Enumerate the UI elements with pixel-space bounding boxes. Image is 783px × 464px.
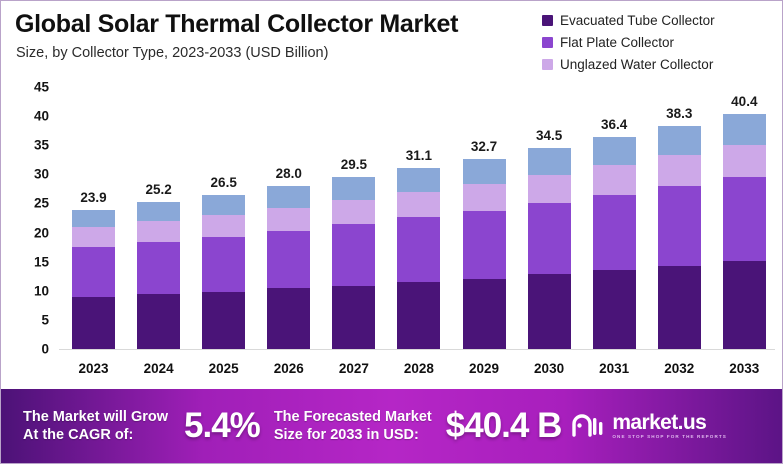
stacked-bar[interactable]	[397, 168, 440, 349]
bar-segment[interactable]	[528, 175, 571, 203]
y-axis-tick-label: 5	[41, 312, 49, 327]
bar-segment[interactable]	[658, 126, 701, 155]
bar-column[interactable]: 32.7	[452, 77, 517, 349]
bar-segment[interactable]	[593, 165, 636, 195]
x-axis-tick-label: 2028	[386, 361, 451, 376]
logo-tagline: ONE STOP SHOP FOR THE REPORTS	[612, 435, 727, 440]
bar-total-label: 23.9	[61, 190, 126, 205]
bar-column[interactable]: 40.4	[712, 77, 777, 349]
bar-total-label: 29.5	[321, 157, 386, 172]
bar-segment[interactable]	[593, 270, 636, 349]
bar-segment[interactable]	[137, 202, 180, 221]
bar-segment[interactable]	[202, 292, 245, 349]
cagr-value: 5.4%	[184, 406, 260, 446]
bar-total-label: 28.0	[256, 166, 321, 181]
bar-total-label: 26.5	[191, 175, 256, 190]
cagr-block: The Market will Grow At the CAGR of: 5.4…	[23, 406, 260, 446]
bar-segment[interactable]	[332, 286, 375, 349]
legend-item-label: Evacuated Tube Collector	[560, 13, 715, 28]
bar-total-label: 38.3	[647, 106, 712, 121]
cagr-caption-line2: At the CAGR of:	[23, 426, 168, 444]
bar-segment[interactable]	[528, 148, 571, 175]
y-axis: 051015202530354045	[1, 77, 59, 359]
chart-legend: Evacuated Tube CollectorFlat Plate Colle…	[542, 10, 774, 76]
y-axis-tick-label: 15	[34, 254, 49, 269]
stacked-bar[interactable]	[72, 210, 115, 349]
bar-column[interactable]: 34.5	[517, 77, 582, 349]
bar-total-label: 31.1	[386, 148, 451, 163]
bar-segment[interactable]	[332, 224, 375, 285]
y-axis-tick-label: 10	[34, 283, 49, 298]
y-axis-tick-label: 30	[34, 167, 49, 182]
bar-segment[interactable]	[137, 294, 180, 349]
bar-segment[interactable]	[267, 208, 310, 231]
bar-segment[interactable]	[397, 192, 440, 218]
bar-segment[interactable]	[72, 227, 115, 247]
bar-segment[interactable]	[397, 217, 440, 282]
bar-segment[interactable]	[723, 261, 766, 349]
x-axis-tick-label: 2032	[647, 361, 712, 376]
forecast-caption: The Forecasted Market Size for 2033 in U…	[274, 408, 432, 444]
bar-column[interactable]: 25.2	[126, 77, 191, 349]
bar-segment[interactable]	[593, 137, 636, 165]
legend-item[interactable]: Evacuated Tube Collector	[542, 10, 774, 30]
bar-segment[interactable]	[723, 145, 766, 178]
legend-swatch-icon	[542, 59, 553, 70]
logo-mark-icon	[571, 413, 605, 439]
y-axis-tick-label: 0	[41, 342, 49, 357]
bar-segment[interactable]	[332, 177, 375, 200]
market-us-logo[interactable]: market.us ONE STOP SHOP FOR THE REPORTS	[571, 412, 727, 440]
plot-area: 051015202530354045 23.925.226.528.029.53…	[1, 77, 783, 386]
bar-segment[interactable]	[137, 221, 180, 242]
x-axis-tick-label: 2023	[61, 361, 126, 376]
bar-segment[interactable]	[463, 211, 506, 279]
stacked-bar[interactable]	[658, 126, 701, 349]
cagr-caption-line1: The Market will Grow	[23, 408, 168, 426]
bar-total-label: 40.4	[712, 94, 777, 109]
x-axis-tick-label: 2026	[256, 361, 321, 376]
legend-swatch-icon	[542, 15, 553, 26]
forecast-caption-line1: The Forecasted Market	[274, 408, 432, 426]
y-axis-tick-label: 35	[34, 138, 49, 153]
stacked-bar[interactable]	[137, 202, 180, 349]
bar-column[interactable]: 29.5	[321, 77, 386, 349]
forecast-block: The Forecasted Market Size for 2033 in U…	[274, 406, 562, 446]
y-axis-tick-label: 45	[34, 80, 49, 95]
y-axis-tick-label: 20	[34, 225, 49, 240]
bar-segment[interactable]	[137, 242, 180, 294]
footer-banner: The Market will Grow At the CAGR of: 5.4…	[1, 389, 782, 463]
bar-segment[interactable]	[528, 274, 571, 349]
bar-total-label: 32.7	[452, 139, 517, 154]
bar-segment[interactable]	[72, 210, 115, 227]
stacked-bar[interactable]	[463, 159, 506, 349]
bar-column[interactable]: 28.0	[256, 77, 321, 349]
bar-segment[interactable]	[463, 279, 506, 349]
bar-segment[interactable]	[202, 195, 245, 215]
bar-total-label: 25.2	[126, 182, 191, 197]
forecast-caption-line2: Size for 2033 in USD:	[274, 426, 432, 444]
axis-baseline	[59, 349, 775, 350]
x-axis-tick-label: 2025	[191, 361, 256, 376]
bar-segment[interactable]	[267, 288, 310, 349]
bar-segment[interactable]	[267, 186, 310, 208]
bar-total-label: 34.5	[517, 128, 582, 143]
legend-item[interactable]: Flat Plate Collector	[542, 32, 774, 52]
legend-item-label: Unglazed Water Collector	[560, 57, 713, 72]
bar-segment[interactable]	[723, 177, 766, 261]
legend-swatch-icon	[542, 37, 553, 48]
bar-segment[interactable]	[202, 237, 245, 292]
bar-segment[interactable]	[332, 200, 375, 224]
bar-segment[interactable]	[72, 297, 115, 349]
legend-item[interactable]: Unglazed Water Collector	[542, 54, 774, 74]
logo-name: market.us	[612, 412, 727, 433]
logo-text: market.us ONE STOP SHOP FOR THE REPORTS	[612, 412, 727, 440]
stacked-bar[interactable]	[332, 177, 375, 349]
y-axis-tick-label: 40	[34, 109, 49, 124]
page-title: Global Solar Thermal Collector Market	[15, 10, 458, 39]
bar-segment[interactable]	[723, 114, 766, 145]
bar-column[interactable]: 38.3	[647, 77, 712, 349]
forecast-value: $40.4 B	[446, 406, 562, 446]
chart-subtitle: Size, by Collector Type, 2023-2033 (USD …	[16, 45, 328, 61]
cagr-caption: The Market will Grow At the CAGR of:	[23, 408, 168, 444]
x-axis-tick-label: 2027	[321, 361, 386, 376]
bar-column[interactable]: 23.9	[61, 77, 126, 349]
bar-column[interactable]: 36.4	[582, 77, 647, 349]
stacked-bar[interactable]	[593, 137, 636, 349]
bar-column[interactable]: 31.1	[386, 77, 451, 349]
bar-segment[interactable]	[658, 186, 701, 266]
bar-segment[interactable]	[463, 184, 506, 211]
bar-segment[interactable]	[397, 282, 440, 349]
y-axis-tick-label: 25	[34, 196, 49, 211]
bar-column[interactable]: 26.5	[191, 77, 256, 349]
stacked-bar[interactable]	[723, 114, 766, 349]
bar-series-group: 23.925.226.528.029.531.132.734.536.438.3…	[61, 77, 777, 349]
bar-segment[interactable]	[397, 168, 440, 192]
stacked-bar[interactable]	[528, 148, 571, 349]
stacked-bar[interactable]	[202, 195, 245, 349]
x-axis-tick-label: 2030	[517, 361, 582, 376]
bar-segment[interactable]	[463, 159, 506, 185]
bar-segment[interactable]	[72, 247, 115, 296]
bar-segment[interactable]	[658, 155, 701, 186]
chart-card: Global Solar Thermal Collector Market Si…	[0, 0, 783, 464]
bar-segment[interactable]	[267, 231, 310, 289]
x-axis-tick-label: 2024	[126, 361, 191, 376]
x-axis-tick-label: 2033	[712, 361, 777, 376]
x-axis: 2023202420252026202720282029203020312032…	[61, 355, 777, 381]
stacked-bar[interactable]	[267, 186, 310, 349]
bar-segment[interactable]	[528, 203, 571, 275]
bar-total-label: 36.4	[582, 117, 647, 132]
bar-segment[interactable]	[658, 266, 701, 349]
bar-segment[interactable]	[202, 215, 245, 237]
x-axis-tick-label: 2031	[582, 361, 647, 376]
bar-segment[interactable]	[593, 195, 636, 271]
legend-item-label: Flat Plate Collector	[560, 35, 674, 50]
x-axis-tick-label: 2029	[452, 361, 517, 376]
